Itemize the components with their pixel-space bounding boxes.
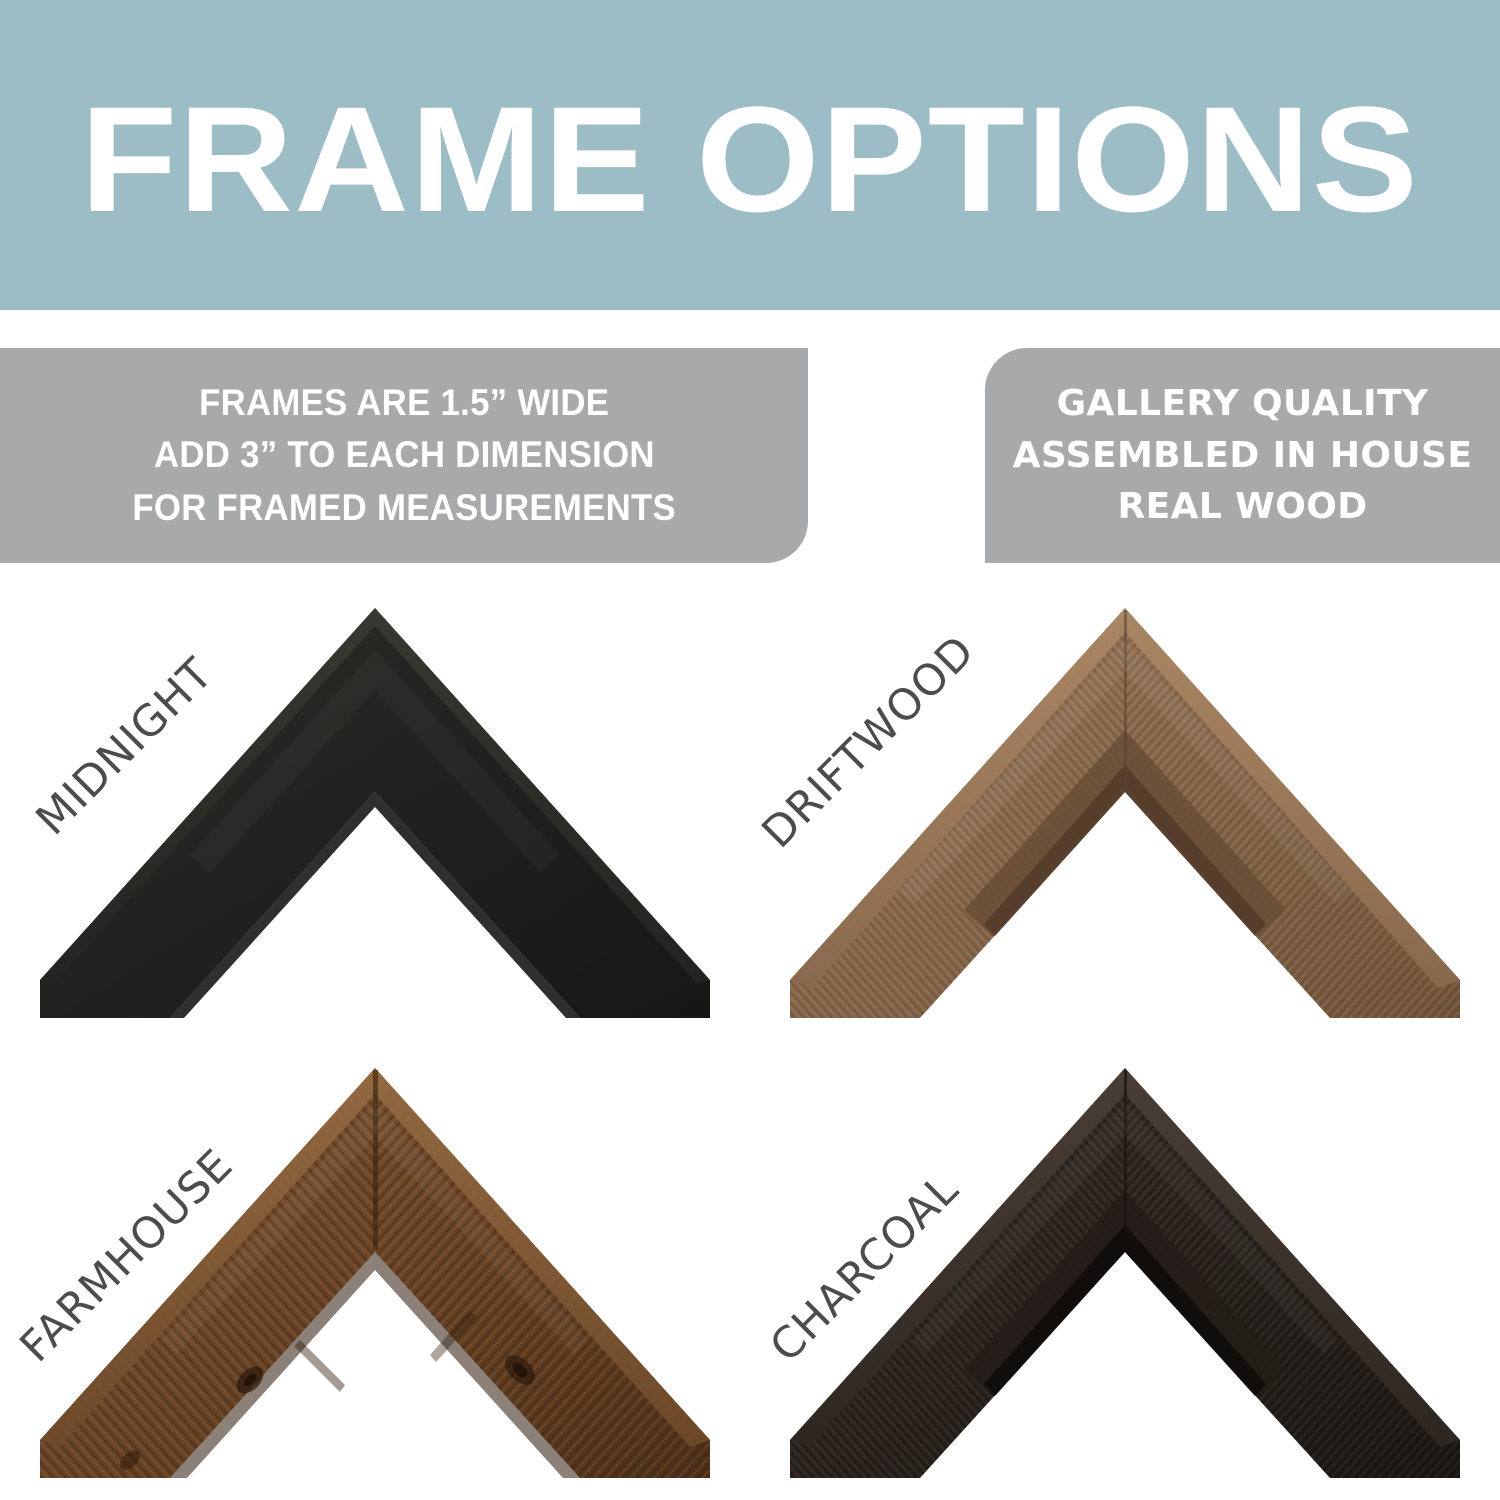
frame-samples-grid: MIDNIGHT: [0, 580, 1500, 1500]
frame-sample-farmhouse[interactable]: FARMHOUSE: [0, 1040, 750, 1500]
dimensions-line-2: ADD 3” TO EACH DIMENSION: [154, 429, 655, 482]
quality-info-box: GALLERY QUALITY ASSEMBLED IN HOUSE REAL …: [985, 348, 1500, 563]
frame-dimensions-info-box: FRAMES ARE 1.5” WIDE ADD 3” TO EACH DIME…: [0, 348, 808, 563]
frame-corner-midnight-graphic: [0, 580, 750, 1040]
header-banner: FRAME OPTIONS: [0, 0, 1500, 310]
frame-corner-driftwood-graphic: [750, 580, 1500, 1040]
quality-line-3: REAL WOOD: [1117, 481, 1367, 533]
dimensions-line-1: FRAMES ARE 1.5” WIDE: [199, 377, 609, 430]
frame-sample-driftwood[interactable]: DRIFTWOOD: [750, 580, 1500, 1040]
frame-sample-midnight[interactable]: MIDNIGHT: [0, 580, 750, 1040]
frame-sample-charcoal[interactable]: CHARCOAL: [750, 1040, 1500, 1500]
dimensions-line-3: FOR FRAMED MEASUREMENTS: [132, 482, 676, 535]
page-title: FRAME OPTIONS: [81, 84, 1420, 234]
quality-line-2: ASSEMBLED IN HOUSE: [1013, 430, 1473, 482]
quality-line-1: GALLERY QUALITY: [1057, 378, 1429, 430]
